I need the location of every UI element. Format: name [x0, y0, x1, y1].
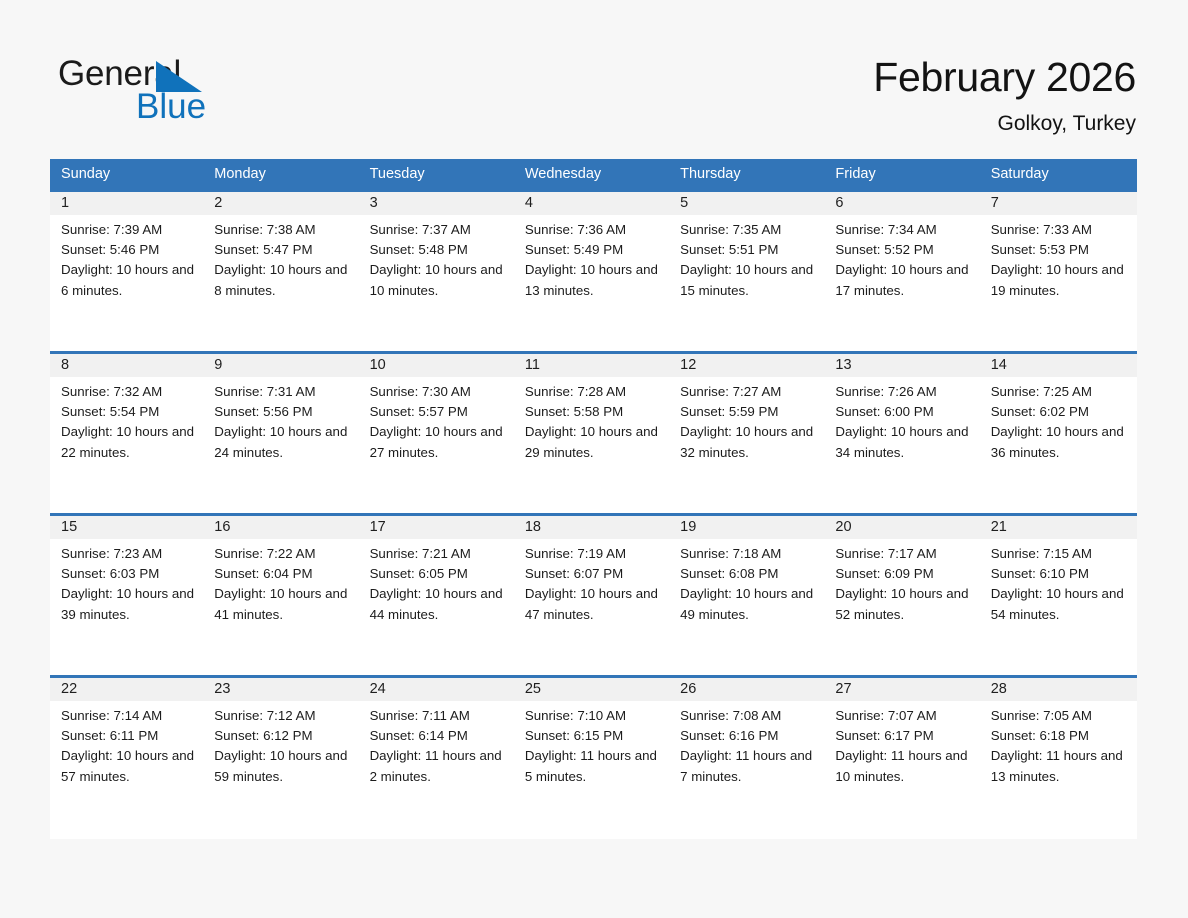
day-number: 22 [50, 678, 205, 701]
sunrise-text: Sunrise: 7:32 AM [61, 382, 197, 402]
calendar-day-cell[interactable]: 5Sunrise: 7:35 AMSunset: 5:51 PMDaylight… [671, 191, 826, 353]
sunrise-text: Sunrise: 7:37 AM [370, 220, 508, 240]
day-details: Sunrise: 7:30 AMSunset: 5:57 PMDaylight:… [361, 377, 516, 463]
daylight-text: Daylight: 10 hours and 24 minutes. [214, 422, 352, 462]
daylight-text: Daylight: 10 hours and 8 minutes. [214, 260, 352, 300]
weekday-header-sunday: Sunday [50, 159, 205, 191]
daylight-text: Daylight: 10 hours and 27 minutes. [370, 422, 508, 462]
day-details: Sunrise: 7:38 AMSunset: 5:47 PMDaylight:… [205, 215, 360, 301]
daylight-text: Daylight: 10 hours and 49 minutes. [680, 584, 818, 624]
sunrise-text: Sunrise: 7:19 AM [525, 544, 663, 564]
calendar-day-cell[interactable]: 24Sunrise: 7:11 AMSunset: 6:14 PMDayligh… [361, 677, 516, 839]
sunrise-text: Sunrise: 7:15 AM [991, 544, 1129, 564]
calendar-body: 1Sunrise: 7:39 AMSunset: 5:46 PMDaylight… [50, 191, 1137, 839]
day-number: 5 [671, 192, 826, 215]
calendar-day-cell[interactable]: 28Sunrise: 7:05 AMSunset: 6:18 PMDayligh… [982, 677, 1137, 839]
sunset-text: Sunset: 6:05 PM [370, 564, 508, 584]
day-details: Sunrise: 7:08 AMSunset: 6:16 PMDaylight:… [671, 701, 826, 787]
daylight-text: Daylight: 10 hours and 57 minutes. [61, 746, 197, 786]
sunrise-text: Sunrise: 7:05 AM [991, 706, 1129, 726]
sunrise-text: Sunrise: 7:10 AM [525, 706, 663, 726]
sunrise-text: Sunrise: 7:12 AM [214, 706, 352, 726]
day-number: 14 [982, 354, 1137, 377]
sunset-text: Sunset: 6:04 PM [214, 564, 352, 584]
calendar-day-cell[interactable]: 21Sunrise: 7:15 AMSunset: 6:10 PMDayligh… [982, 515, 1137, 677]
weekday-header-row: Sunday Monday Tuesday Wednesday Thursday… [50, 159, 1137, 191]
sunrise-text: Sunrise: 7:34 AM [835, 220, 973, 240]
sunset-text: Sunset: 6:10 PM [991, 564, 1129, 584]
calendar-day-cell[interactable]: 27Sunrise: 7:07 AMSunset: 6:17 PMDayligh… [826, 677, 981, 839]
day-details: Sunrise: 7:15 AMSunset: 6:10 PMDaylight:… [982, 539, 1137, 625]
calendar-day-cell[interactable]: 22Sunrise: 7:14 AMSunset: 6:11 PMDayligh… [50, 677, 205, 839]
daylight-text: Daylight: 10 hours and 59 minutes. [214, 746, 352, 786]
day-details: Sunrise: 7:28 AMSunset: 5:58 PMDaylight:… [516, 377, 671, 463]
calendar-day-cell[interactable]: 1Sunrise: 7:39 AMSunset: 5:46 PMDaylight… [50, 191, 205, 353]
sunrise-sunset-calendar: Sunday Monday Tuesday Wednesday Thursday… [50, 159, 1137, 839]
weekday-header-thursday: Thursday [671, 159, 826, 191]
page-title: February 2026 [873, 52, 1136, 102]
daylight-text: Daylight: 11 hours and 7 minutes. [680, 746, 818, 786]
day-details: Sunrise: 7:19 AMSunset: 6:07 PMDaylight:… [516, 539, 671, 625]
day-details: Sunrise: 7:23 AMSunset: 6:03 PMDaylight:… [50, 539, 205, 625]
calendar-day-cell[interactable]: 10Sunrise: 7:30 AMSunset: 5:57 PMDayligh… [361, 353, 516, 515]
sunset-text: Sunset: 6:17 PM [835, 726, 973, 746]
daylight-text: Daylight: 10 hours and 29 minutes. [525, 422, 663, 462]
day-details: Sunrise: 7:32 AMSunset: 5:54 PMDaylight:… [50, 377, 205, 463]
day-number: 8 [50, 354, 205, 377]
calendar-day-cell[interactable]: 20Sunrise: 7:17 AMSunset: 6:09 PMDayligh… [826, 515, 981, 677]
calendar-day-cell[interactable]: 18Sunrise: 7:19 AMSunset: 6:07 PMDayligh… [516, 515, 671, 677]
daylight-text: Daylight: 10 hours and 15 minutes. [680, 260, 818, 300]
day-number: 27 [826, 678, 981, 701]
daylight-text: Daylight: 10 hours and 36 minutes. [991, 422, 1129, 462]
sunrise-text: Sunrise: 7:27 AM [680, 382, 818, 402]
calendar-day-cell[interactable]: 14Sunrise: 7:25 AMSunset: 6:02 PMDayligh… [982, 353, 1137, 515]
calendar-day-cell[interactable]: 17Sunrise: 7:21 AMSunset: 6:05 PMDayligh… [361, 515, 516, 677]
calendar-day-cell[interactable]: 26Sunrise: 7:08 AMSunset: 6:16 PMDayligh… [671, 677, 826, 839]
weekday-header-friday: Friday [826, 159, 981, 191]
sunrise-text: Sunrise: 7:31 AM [214, 382, 352, 402]
day-details: Sunrise: 7:34 AMSunset: 5:52 PMDaylight:… [826, 215, 981, 301]
day-number: 10 [361, 354, 516, 377]
day-number: 25 [516, 678, 671, 701]
daylight-text: Daylight: 11 hours and 13 minutes. [991, 746, 1129, 786]
day-details: Sunrise: 7:22 AMSunset: 6:04 PMDaylight:… [205, 539, 360, 625]
day-number: 6 [826, 192, 981, 215]
calendar-day-cell[interactable]: 8Sunrise: 7:32 AMSunset: 5:54 PMDaylight… [50, 353, 205, 515]
daylight-text: Daylight: 11 hours and 5 minutes. [525, 746, 663, 786]
calendar-day-cell[interactable]: 9Sunrise: 7:31 AMSunset: 5:56 PMDaylight… [205, 353, 360, 515]
sunset-text: Sunset: 5:53 PM [991, 240, 1129, 260]
daylight-text: Daylight: 10 hours and 39 minutes. [61, 584, 197, 624]
sunset-text: Sunset: 6:00 PM [835, 402, 973, 422]
calendar-day-cell[interactable]: 6Sunrise: 7:34 AMSunset: 5:52 PMDaylight… [826, 191, 981, 353]
calendar-day-cell[interactable]: 3Sunrise: 7:37 AMSunset: 5:48 PMDaylight… [361, 191, 516, 353]
sunrise-text: Sunrise: 7:30 AM [370, 382, 508, 402]
day-details: Sunrise: 7:35 AMSunset: 5:51 PMDaylight:… [671, 215, 826, 301]
day-number: 13 [826, 354, 981, 377]
sunset-text: Sunset: 6:16 PM [680, 726, 818, 746]
daylight-text: Daylight: 10 hours and 22 minutes. [61, 422, 197, 462]
calendar-week-row: 8Sunrise: 7:32 AMSunset: 5:54 PMDaylight… [50, 353, 1137, 515]
sunrise-text: Sunrise: 7:36 AM [525, 220, 663, 240]
day-number: 21 [982, 516, 1137, 539]
sunset-text: Sunset: 6:14 PM [370, 726, 508, 746]
weekday-header-saturday: Saturday [982, 159, 1137, 191]
sunset-text: Sunset: 5:52 PM [835, 240, 973, 260]
sunrise-text: Sunrise: 7:38 AM [214, 220, 352, 240]
sunset-text: Sunset: 6:18 PM [991, 726, 1129, 746]
daylight-text: Daylight: 10 hours and 41 minutes. [214, 584, 352, 624]
day-number: 18 [516, 516, 671, 539]
sunset-text: Sunset: 5:59 PM [680, 402, 818, 422]
sunset-text: Sunset: 6:11 PM [61, 726, 197, 746]
weekday-header-tuesday: Tuesday [361, 159, 516, 191]
sunrise-text: Sunrise: 7:18 AM [680, 544, 818, 564]
daylight-text: Daylight: 11 hours and 10 minutes. [835, 746, 973, 786]
location-subtitle: Golkoy, Turkey [873, 110, 1136, 138]
sunrise-text: Sunrise: 7:22 AM [214, 544, 352, 564]
sunset-text: Sunset: 5:57 PM [370, 402, 508, 422]
day-details: Sunrise: 7:31 AMSunset: 5:56 PMDaylight:… [205, 377, 360, 463]
day-details: Sunrise: 7:05 AMSunset: 6:18 PMDaylight:… [982, 701, 1137, 787]
calendar-day-cell[interactable]: 4Sunrise: 7:36 AMSunset: 5:49 PMDaylight… [516, 191, 671, 353]
calendar-day-cell[interactable]: 7Sunrise: 7:33 AMSunset: 5:53 PMDaylight… [982, 191, 1137, 353]
day-details: Sunrise: 7:37 AMSunset: 5:48 PMDaylight:… [361, 215, 516, 301]
day-number: 17 [361, 516, 516, 539]
page-header: General Blue February 2026 Golkoy, Turke… [0, 0, 1188, 152]
day-number: 1 [50, 192, 205, 215]
day-details: Sunrise: 7:25 AMSunset: 6:02 PMDaylight:… [982, 377, 1137, 463]
daylight-text: Daylight: 10 hours and 13 minutes. [525, 260, 663, 300]
day-number: 3 [361, 192, 516, 215]
weekday-header-monday: Monday [205, 159, 360, 191]
sunrise-text: Sunrise: 7:39 AM [61, 220, 197, 240]
title-block: February 2026 Golkoy, Turkey [873, 52, 1136, 138]
day-details: Sunrise: 7:26 AMSunset: 6:00 PMDaylight:… [826, 377, 981, 463]
day-number: 20 [826, 516, 981, 539]
sunset-text: Sunset: 5:54 PM [61, 402, 197, 422]
calendar-week-row: 15Sunrise: 7:23 AMSunset: 6:03 PMDayligh… [50, 515, 1137, 677]
sunrise-text: Sunrise: 7:11 AM [370, 706, 508, 726]
daylight-text: Daylight: 10 hours and 32 minutes. [680, 422, 818, 462]
sunset-text: Sunset: 6:07 PM [525, 564, 663, 584]
daylight-text: Daylight: 10 hours and 54 minutes. [991, 584, 1129, 624]
day-number: 7 [982, 192, 1137, 215]
sunrise-text: Sunrise: 7:33 AM [991, 220, 1129, 240]
sunset-text: Sunset: 5:58 PM [525, 402, 663, 422]
sunset-text: Sunset: 5:56 PM [214, 402, 352, 422]
day-details: Sunrise: 7:10 AMSunset: 6:15 PMDaylight:… [516, 701, 671, 787]
sunset-text: Sunset: 5:51 PM [680, 240, 818, 260]
daylight-text: Daylight: 10 hours and 6 minutes. [61, 260, 197, 300]
calendar-page: General Blue February 2026 Golkoy, Turke… [0, 0, 1188, 918]
daylight-text: Daylight: 10 hours and 10 minutes. [370, 260, 508, 300]
sunrise-text: Sunrise: 7:07 AM [835, 706, 973, 726]
day-details: Sunrise: 7:07 AMSunset: 6:17 PMDaylight:… [826, 701, 981, 787]
sunset-text: Sunset: 6:03 PM [61, 564, 197, 584]
day-number: 28 [982, 678, 1137, 701]
daylight-text: Daylight: 11 hours and 2 minutes. [370, 746, 508, 786]
day-details: Sunrise: 7:36 AMSunset: 5:49 PMDaylight:… [516, 215, 671, 301]
sunset-text: Sunset: 6:09 PM [835, 564, 973, 584]
calendar-day-cell[interactable]: 12Sunrise: 7:27 AMSunset: 5:59 PMDayligh… [671, 353, 826, 515]
general-blue-logo[interactable]: General Blue [58, 55, 358, 125]
sunrise-text: Sunrise: 7:25 AM [991, 382, 1129, 402]
day-details: Sunrise: 7:12 AMSunset: 6:12 PMDaylight:… [205, 701, 360, 787]
day-details: Sunrise: 7:17 AMSunset: 6:09 PMDaylight:… [826, 539, 981, 625]
calendar-day-cell[interactable]: 23Sunrise: 7:12 AMSunset: 6:12 PMDayligh… [205, 677, 360, 839]
sunrise-text: Sunrise: 7:14 AM [61, 706, 197, 726]
sunset-text: Sunset: 5:47 PM [214, 240, 352, 260]
calendar-week-row: 1Sunrise: 7:39 AMSunset: 5:46 PMDaylight… [50, 191, 1137, 353]
day-number: 15 [50, 516, 205, 539]
sunrise-text: Sunrise: 7:23 AM [61, 544, 197, 564]
sunset-text: Sunset: 5:48 PM [370, 240, 508, 260]
day-number: 19 [671, 516, 826, 539]
sunset-text: Sunset: 5:49 PM [525, 240, 663, 260]
daylight-text: Daylight: 10 hours and 47 minutes. [525, 584, 663, 624]
sunrise-text: Sunrise: 7:26 AM [835, 382, 973, 402]
day-details: Sunrise: 7:18 AMSunset: 6:08 PMDaylight:… [671, 539, 826, 625]
day-number: 26 [671, 678, 826, 701]
logo-text-blue: Blue [136, 88, 206, 126]
daylight-text: Daylight: 10 hours and 17 minutes. [835, 260, 973, 300]
daylight-text: Daylight: 10 hours and 19 minutes. [991, 260, 1129, 300]
sunset-text: Sunset: 5:46 PM [61, 240, 197, 260]
sunrise-text: Sunrise: 7:17 AM [835, 544, 973, 564]
day-details: Sunrise: 7:33 AMSunset: 5:53 PMDaylight:… [982, 215, 1137, 301]
calendar-day-cell[interactable]: 16Sunrise: 7:22 AMSunset: 6:04 PMDayligh… [205, 515, 360, 677]
day-details: Sunrise: 7:21 AMSunset: 6:05 PMDaylight:… [361, 539, 516, 625]
weekday-header-wednesday: Wednesday [516, 159, 671, 191]
calendar-day-cell[interactable]: 25Sunrise: 7:10 AMSunset: 6:15 PMDayligh… [516, 677, 671, 839]
sunset-text: Sunset: 6:02 PM [991, 402, 1129, 422]
calendar-day-cell[interactable]: 15Sunrise: 7:23 AMSunset: 6:03 PMDayligh… [50, 515, 205, 677]
day-number: 11 [516, 354, 671, 377]
day-number: 12 [671, 354, 826, 377]
sunset-text: Sunset: 6:15 PM [525, 726, 663, 746]
sunrise-text: Sunrise: 7:28 AM [525, 382, 663, 402]
sunrise-text: Sunrise: 7:08 AM [680, 706, 818, 726]
calendar-day-cell[interactable]: 19Sunrise: 7:18 AMSunset: 6:08 PMDayligh… [671, 515, 826, 677]
day-number: 4 [516, 192, 671, 215]
day-number: 2 [205, 192, 360, 215]
day-number: 24 [361, 678, 516, 701]
day-details: Sunrise: 7:14 AMSunset: 6:11 PMDaylight:… [50, 701, 205, 787]
sunset-text: Sunset: 6:08 PM [680, 564, 818, 584]
calendar-day-cell[interactable]: 13Sunrise: 7:26 AMSunset: 6:00 PMDayligh… [826, 353, 981, 515]
sunset-text: Sunset: 6:12 PM [214, 726, 352, 746]
calendar-week-row: 22Sunrise: 7:14 AMSunset: 6:11 PMDayligh… [50, 677, 1137, 839]
daylight-text: Daylight: 10 hours and 52 minutes. [835, 584, 973, 624]
calendar-day-cell[interactable]: 2Sunrise: 7:38 AMSunset: 5:47 PMDaylight… [205, 191, 360, 353]
day-details: Sunrise: 7:11 AMSunset: 6:14 PMDaylight:… [361, 701, 516, 787]
calendar-day-cell[interactable]: 11Sunrise: 7:28 AMSunset: 5:58 PMDayligh… [516, 353, 671, 515]
day-number: 23 [205, 678, 360, 701]
day-details: Sunrise: 7:39 AMSunset: 5:46 PMDaylight:… [50, 215, 205, 301]
daylight-text: Daylight: 10 hours and 44 minutes. [370, 584, 508, 624]
day-details: Sunrise: 7:27 AMSunset: 5:59 PMDaylight:… [671, 377, 826, 463]
day-number: 9 [205, 354, 360, 377]
sunrise-text: Sunrise: 7:21 AM [370, 544, 508, 564]
daylight-text: Daylight: 10 hours and 34 minutes. [835, 422, 973, 462]
day-number: 16 [205, 516, 360, 539]
sunrise-text: Sunrise: 7:35 AM [680, 220, 818, 240]
